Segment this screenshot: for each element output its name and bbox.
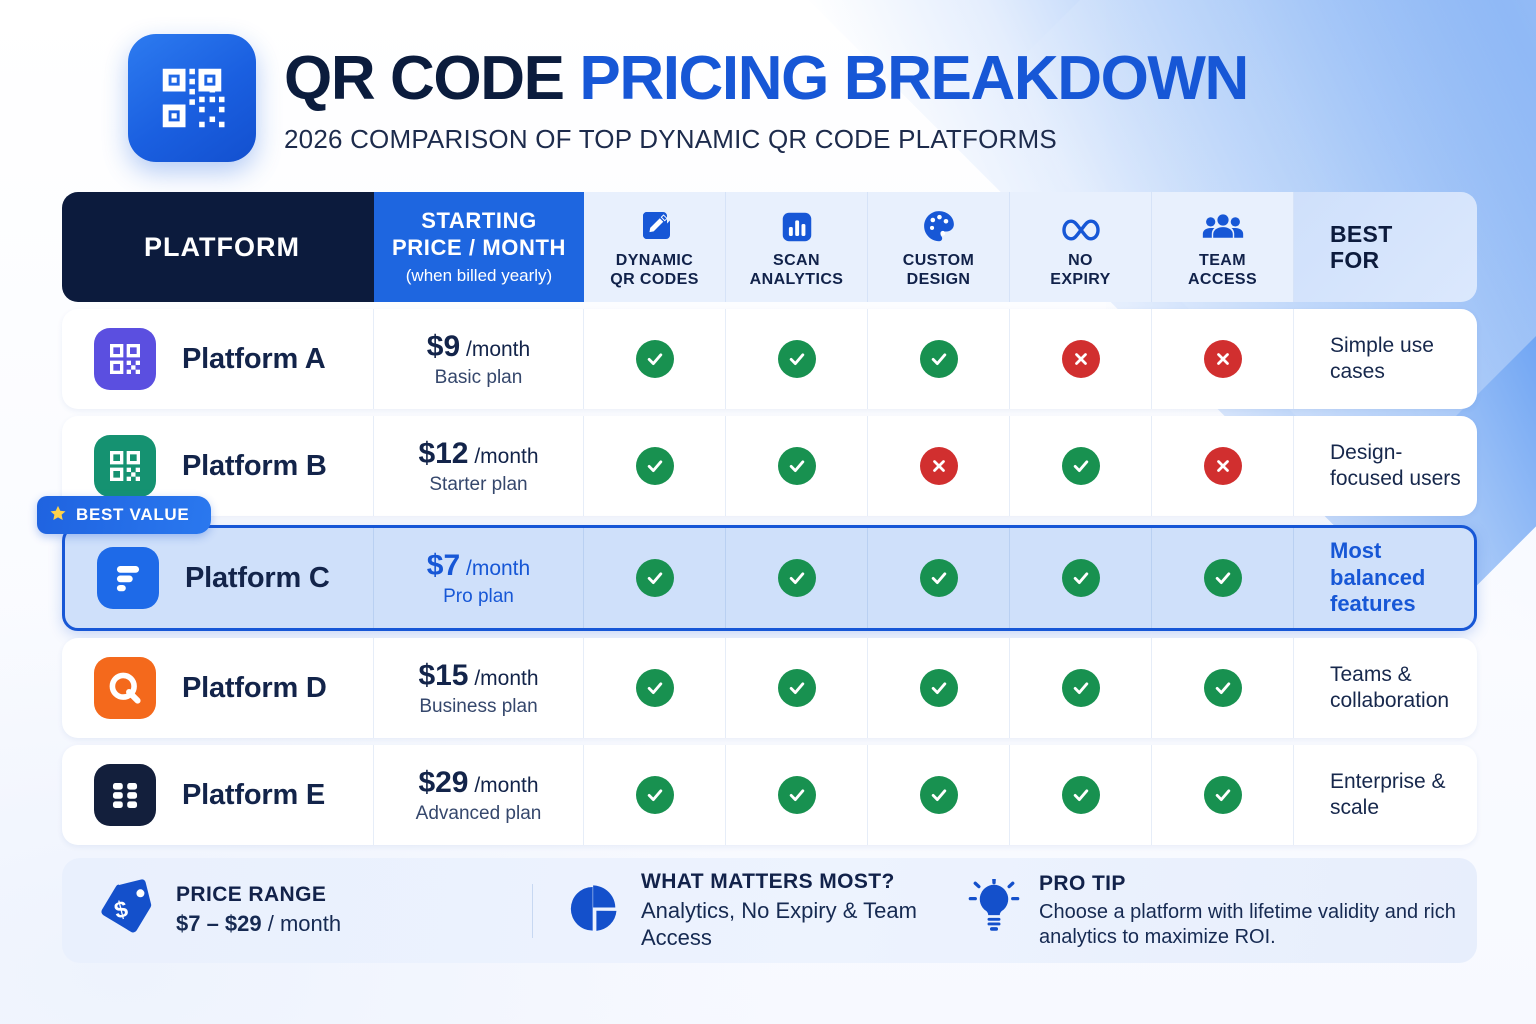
column-header-best-line2: FOR (1330, 247, 1379, 273)
price-plan-name: Basic plan (435, 367, 523, 389)
cross-circle-icon (920, 447, 958, 485)
cell-best-for: Design-focused users (1294, 416, 1477, 516)
column-header-scan-line2: ANALYTICS (750, 271, 844, 290)
price-amount: $9 (427, 330, 460, 363)
column-header-price-line1: STARTING (421, 208, 537, 234)
platform-name: Platform A (182, 343, 326, 376)
check-circle-icon (1062, 776, 1100, 814)
column-header-team-line2: ACCESS (1188, 271, 1257, 290)
cell-dynamic-qr-codes (584, 309, 726, 409)
check-circle-icon (636, 776, 674, 814)
column-header-dynamic-qr-codes: DYNAMIC QR CODES (584, 192, 726, 302)
check-circle-icon (778, 559, 816, 597)
price-period: /month (469, 445, 539, 468)
cell-team-access (1152, 638, 1294, 738)
column-header-team-line1: TEAM (1199, 252, 1246, 271)
price-period: /month (460, 338, 530, 361)
cell-team-access (1152, 528, 1294, 628)
cell-no-expiry (1010, 745, 1152, 845)
cell-no-expiry (1010, 416, 1152, 516)
infinity-icon (1058, 205, 1104, 245)
footer-item-what-matters: WHAT MATTERS MOST? Analytics, No Expiry … (533, 870, 933, 952)
price-period: /month (460, 557, 530, 580)
price-plan-name: Pro plan (443, 586, 514, 608)
cell-team-access (1152, 745, 1294, 845)
footer-protip-body: Choose a platform with lifetime validity… (1039, 900, 1477, 949)
price-amount: $7 (427, 549, 460, 582)
pie-chart-icon (567, 880, 623, 941)
price-main: $12 /month (418, 437, 538, 471)
brand-tile (128, 34, 256, 162)
price-plan-name: Advanced plan (416, 803, 542, 825)
cell-price: $9 /monthBasic plan (374, 309, 584, 409)
cell-custom-design (868, 638, 1010, 738)
check-circle-icon (1204, 776, 1242, 814)
qr-code-icon (153, 59, 231, 137)
cell-custom-design (868, 416, 1010, 516)
check-circle-icon (636, 669, 674, 707)
cell-scan-analytics (726, 528, 868, 628)
cell-platform: Platform E (62, 745, 374, 845)
check-circle-icon (636, 447, 674, 485)
qr-tile-icon (94, 328, 156, 390)
cell-best-for: Enterprise & scale (1294, 745, 1477, 845)
q-search-tile-icon (94, 657, 156, 719)
check-circle-icon (1204, 669, 1242, 707)
cell-platform: Platform D (62, 638, 374, 738)
people-group-icon (1202, 205, 1244, 245)
title-part-dark: QR CODE (284, 44, 564, 113)
table-row[interactable]: Platform B$12 /monthStarter planDesign-f… (62, 416, 1477, 516)
table-body: Platform A$9 /monthBasic planSimple use … (62, 309, 1477, 845)
column-header-dynamic-line1: DYNAMIC (616, 252, 693, 271)
check-circle-icon (920, 559, 958, 597)
grid-tile-icon (94, 764, 156, 826)
footer-item-pro-tip: PRO TIP Choose a platform with lifetime … (933, 872, 1477, 949)
cell-scan-analytics (726, 416, 868, 516)
column-header-design-line2: DESIGN (907, 271, 971, 290)
cell-scan-analytics (726, 638, 868, 738)
column-header-design-line1: CUSTOM (903, 252, 974, 271)
check-circle-icon (778, 447, 816, 485)
price-main: $7 /month (427, 549, 530, 583)
price-amount: $15 (418, 659, 468, 692)
cell-dynamic-qr-codes (584, 745, 726, 845)
best-for-text: Simple use cases (1330, 333, 1461, 384)
title-part-blue: PRICING BREAKDOWN (579, 44, 1248, 113)
table-row[interactable]: Platform E$29 /monthAdvanced planEnterpr… (62, 745, 1477, 845)
check-circle-icon (920, 776, 958, 814)
footer-matters-text: WHAT MATTERS MOST? Analytics, No Expiry … (641, 870, 933, 952)
column-header-platform-label: PLATFORM (144, 232, 300, 263)
cell-platform: Platform C (65, 528, 374, 628)
cell-scan-analytics (726, 309, 868, 409)
column-header-scan-analytics: SCAN ANALYTICS (726, 192, 868, 302)
column-header-price: STARTING PRICE / MONTH (when billed year… (374, 192, 584, 302)
price-period: /month (469, 667, 539, 690)
platform-name: Platform D (182, 672, 327, 705)
cell-best-for: Teams & collaboration (1294, 638, 1477, 738)
footer-matters-heading: WHAT MATTERS MOST? (641, 870, 933, 894)
cell-best-for: Most balanced features (1294, 528, 1474, 628)
check-circle-icon (1062, 559, 1100, 597)
best-for-text: Teams & collaboration (1330, 662, 1461, 713)
column-header-best-for: BEST FOR (1294, 192, 1477, 302)
footer-price-range-value: $7 – $29 (176, 911, 262, 936)
best-value-badge-label: BEST VALUE (76, 505, 189, 525)
bars-tile-icon (97, 547, 159, 609)
footer-protip-heading: PRO TIP (1039, 872, 1477, 896)
check-circle-icon (1062, 669, 1100, 707)
column-header-expiry-line1: NO (1068, 252, 1093, 271)
platform-name: Platform B (182, 450, 327, 483)
price-main: $9 /month (427, 330, 530, 364)
cell-no-expiry (1010, 638, 1152, 738)
cell-custom-design (868, 309, 1010, 409)
price-plan-name: Business plan (419, 696, 537, 718)
column-header-expiry-line2: EXPIRY (1050, 271, 1111, 290)
cross-circle-icon (1062, 340, 1100, 378)
cell-team-access (1152, 416, 1294, 516)
check-circle-icon (636, 559, 674, 597)
check-circle-icon (778, 340, 816, 378)
footer-price-heading: PRICE RANGE (176, 883, 341, 907)
column-header-price-line2: PRICE / MONTH (392, 235, 566, 261)
cell-best-for: Simple use cases (1294, 309, 1477, 409)
cell-dynamic-qr-codes (584, 638, 726, 738)
column-header-dynamic-line2: QR CODES (610, 271, 699, 290)
table-row[interactable]: BEST VALUE Platform C$7 /monthPro planMo… (62, 525, 1477, 631)
price-period: /month (469, 774, 539, 797)
page-subtitle: 2026 COMPARISON OF TOP DYNAMIC QR CODE P… (284, 124, 1248, 155)
cell-no-expiry (1010, 309, 1152, 409)
price-amount: $29 (418, 766, 468, 799)
check-circle-icon (778, 776, 816, 814)
page-title: QR CODE PRICING BREAKDOWN (284, 48, 1248, 110)
best-for-text: Design-focused users (1330, 440, 1461, 491)
star-icon (49, 504, 67, 527)
column-header-no-expiry: NO EXPIRY (1010, 192, 1152, 302)
best-for-text: Enterprise & scale (1330, 769, 1461, 820)
cell-no-expiry (1010, 528, 1152, 628)
cell-team-access (1152, 309, 1294, 409)
footer-item-price-range: $ PRICE RANGE $7 – $29 / month (62, 877, 532, 944)
price-amount: $12 (418, 437, 468, 470)
cell-dynamic-qr-codes (584, 528, 726, 628)
platform-name: Platform E (182, 779, 325, 812)
check-circle-icon (778, 669, 816, 707)
lightbulb-icon (967, 879, 1021, 942)
cell-price: $12 /monthStarter plan (374, 416, 584, 516)
cell-dynamic-qr-codes (584, 416, 726, 516)
page-header: QR CODE PRICING BREAKDOWN 2026 COMPARISO… (128, 34, 1248, 162)
table-row[interactable]: Platform A$9 /monthBasic planSimple use … (62, 309, 1477, 409)
cell-price: $7 /monthPro plan (374, 528, 584, 628)
qr-tile-icon (94, 435, 156, 497)
column-header-custom-design: CUSTOM DESIGN (868, 192, 1010, 302)
cell-price: $15 /monthBusiness plan (374, 638, 584, 738)
check-circle-icon (1204, 559, 1242, 597)
cell-custom-design (868, 528, 1010, 628)
cell-price: $29 /monthAdvanced plan (374, 745, 584, 845)
column-header-price-note: (when billed yearly) (406, 266, 552, 286)
summary-footer: $ PRICE RANGE $7 – $29 / month WHAT MATT… (62, 858, 1477, 963)
price-tag-icon: $ (96, 877, 158, 944)
cell-scan-analytics (726, 745, 868, 845)
infographic-canvas: QR CODE PRICING BREAKDOWN 2026 COMPARISO… (0, 0, 1536, 1024)
table-header-row: PLATFORM STARTING PRICE / MONTH (when bi… (62, 192, 1477, 302)
price-main: $15 /month (418, 659, 538, 693)
title-block: QR CODE PRICING BREAKDOWN 2026 COMPARISO… (284, 34, 1248, 155)
check-circle-icon (1062, 447, 1100, 485)
footer-price-text: PRICE RANGE $7 – $29 / month (176, 883, 341, 938)
cell-platform: Platform A (62, 309, 374, 409)
price-plan-name: Starter plan (429, 474, 527, 496)
price-main: $29 /month (418, 766, 538, 800)
bar-chart-icon (779, 205, 815, 245)
palette-icon (920, 205, 958, 245)
platform-name: Platform C (185, 562, 330, 595)
check-circle-icon (636, 340, 674, 378)
footer-matters-body: Analytics, No Expiry & Team Access (641, 898, 933, 952)
pencil-square-icon (637, 205, 673, 245)
cross-circle-icon (1204, 340, 1242, 378)
column-header-best-line1: BEST (1330, 221, 1393, 247)
best-value-badge: BEST VALUE (37, 496, 211, 534)
column-header-team-access: TEAM ACCESS (1152, 192, 1294, 302)
footer-price-body: $7 – $29 / month (176, 911, 341, 938)
best-for-text: Most balanced features (1330, 538, 1458, 618)
check-circle-icon (920, 340, 958, 378)
table-row[interactable]: Platform D$15 /monthBusiness planTeams &… (62, 638, 1477, 738)
footer-price-range-unit: / month (262, 911, 341, 936)
cross-circle-icon (1204, 447, 1242, 485)
check-circle-icon (920, 669, 958, 707)
cell-custom-design (868, 745, 1010, 845)
footer-protip-text: PRO TIP Choose a platform with lifetime … (1039, 872, 1477, 949)
column-header-platform: PLATFORM (62, 192, 374, 302)
comparison-table: PLATFORM STARTING PRICE / MONTH (when bi… (62, 192, 1477, 845)
column-header-scan-line1: SCAN (773, 252, 820, 271)
